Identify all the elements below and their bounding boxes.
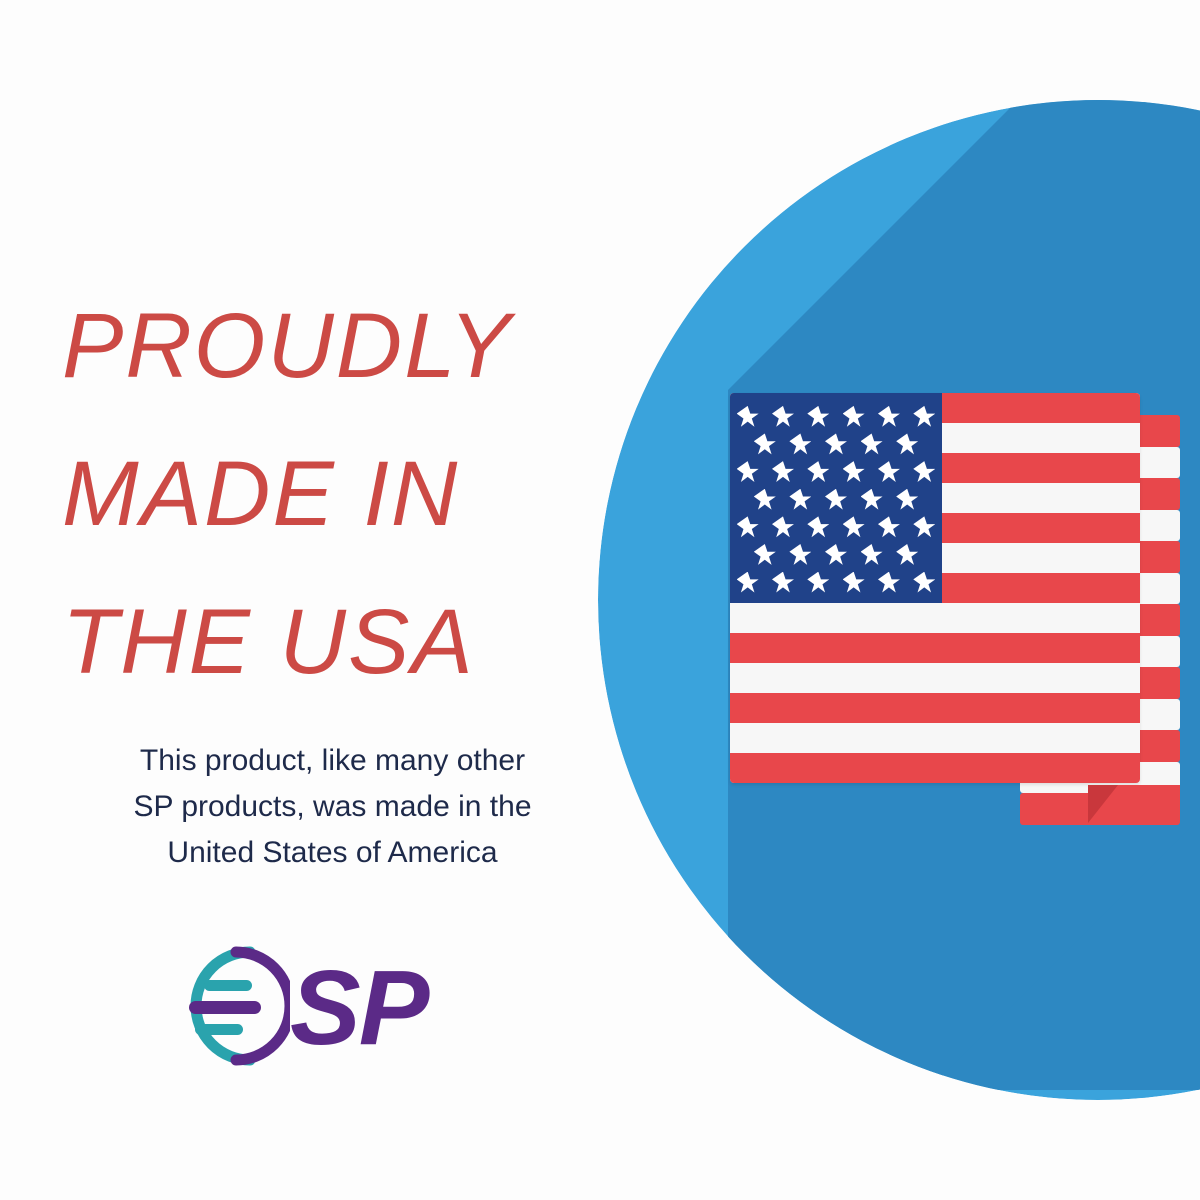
flag-star (772, 406, 794, 428)
headline-line-3: THE USA (62, 568, 662, 716)
flag-star (825, 489, 847, 511)
flag-star (843, 572, 865, 594)
flag-stripe (730, 603, 1140, 633)
flag-front-body (730, 393, 1140, 783)
flag-star-row (730, 514, 942, 542)
flag-star-row (730, 569, 942, 597)
flag-star-row (730, 431, 942, 459)
flag-star (807, 406, 829, 428)
flag-star (913, 516, 935, 538)
flag-stripe (730, 663, 1140, 693)
flag-star (807, 516, 829, 538)
flag-star (789, 544, 811, 566)
flag-star-row (730, 458, 942, 486)
flag-star (789, 433, 811, 455)
flag-star (878, 572, 900, 594)
flag-star (861, 544, 883, 566)
flag-star (896, 433, 918, 455)
page-headline: PROUDLY MADE IN THE USA (62, 272, 662, 716)
made-in-usa-banner: PROUDLY MADE IN THE USA This product, li… (0, 0, 1200, 1200)
flag-star (737, 572, 759, 594)
flag-star (772, 572, 794, 594)
flag-stripe (730, 753, 1140, 783)
flag-star (843, 406, 865, 428)
body-copy-line-3: United States of America (60, 830, 605, 876)
flag-stripe (730, 723, 1140, 753)
flag-star (772, 461, 794, 483)
flag-star-row (730, 486, 942, 514)
flag-canton (730, 393, 942, 603)
flag-star (861, 433, 883, 455)
flag-star (737, 406, 759, 428)
flag-star (825, 433, 847, 455)
flag-star (913, 572, 935, 594)
flag-star (737, 516, 759, 538)
flag-star (913, 406, 935, 428)
flag-star (789, 489, 811, 511)
sp-logo: SP (168, 940, 508, 1080)
flag-star (807, 461, 829, 483)
flag-stripe (730, 633, 1140, 663)
flag-star (878, 516, 900, 538)
flag-star (896, 544, 918, 566)
flag-star (754, 544, 776, 566)
headline-line-2: MADE IN (62, 420, 662, 568)
flag-star (896, 489, 918, 511)
body-copy-line-1: This product, like many other (60, 738, 605, 784)
flag-star (807, 572, 829, 594)
flag-star (772, 516, 794, 538)
body-copy-line-2: SP products, was made in the (60, 784, 605, 830)
headline-line-1: PROUDLY (62, 272, 662, 420)
flag-star (878, 406, 900, 428)
flag-star (825, 544, 847, 566)
sp-wordmark: SP (290, 942, 427, 1074)
flag-star-row (730, 403, 942, 431)
flag-star (754, 433, 776, 455)
flag-star (913, 461, 935, 483)
flag-star (737, 461, 759, 483)
sp-dna-circle-icon (168, 940, 290, 1072)
flag-star (861, 489, 883, 511)
flag-fold-notch (1088, 785, 1118, 823)
flag-star (754, 489, 776, 511)
flag-stripe (730, 693, 1140, 723)
united-states-flag (730, 393, 1180, 803)
flag-star (878, 461, 900, 483)
body-copy: This product, like many other SP product… (60, 738, 605, 876)
flag-star (843, 461, 865, 483)
flag-star (843, 516, 865, 538)
flag-star-row (730, 541, 942, 569)
